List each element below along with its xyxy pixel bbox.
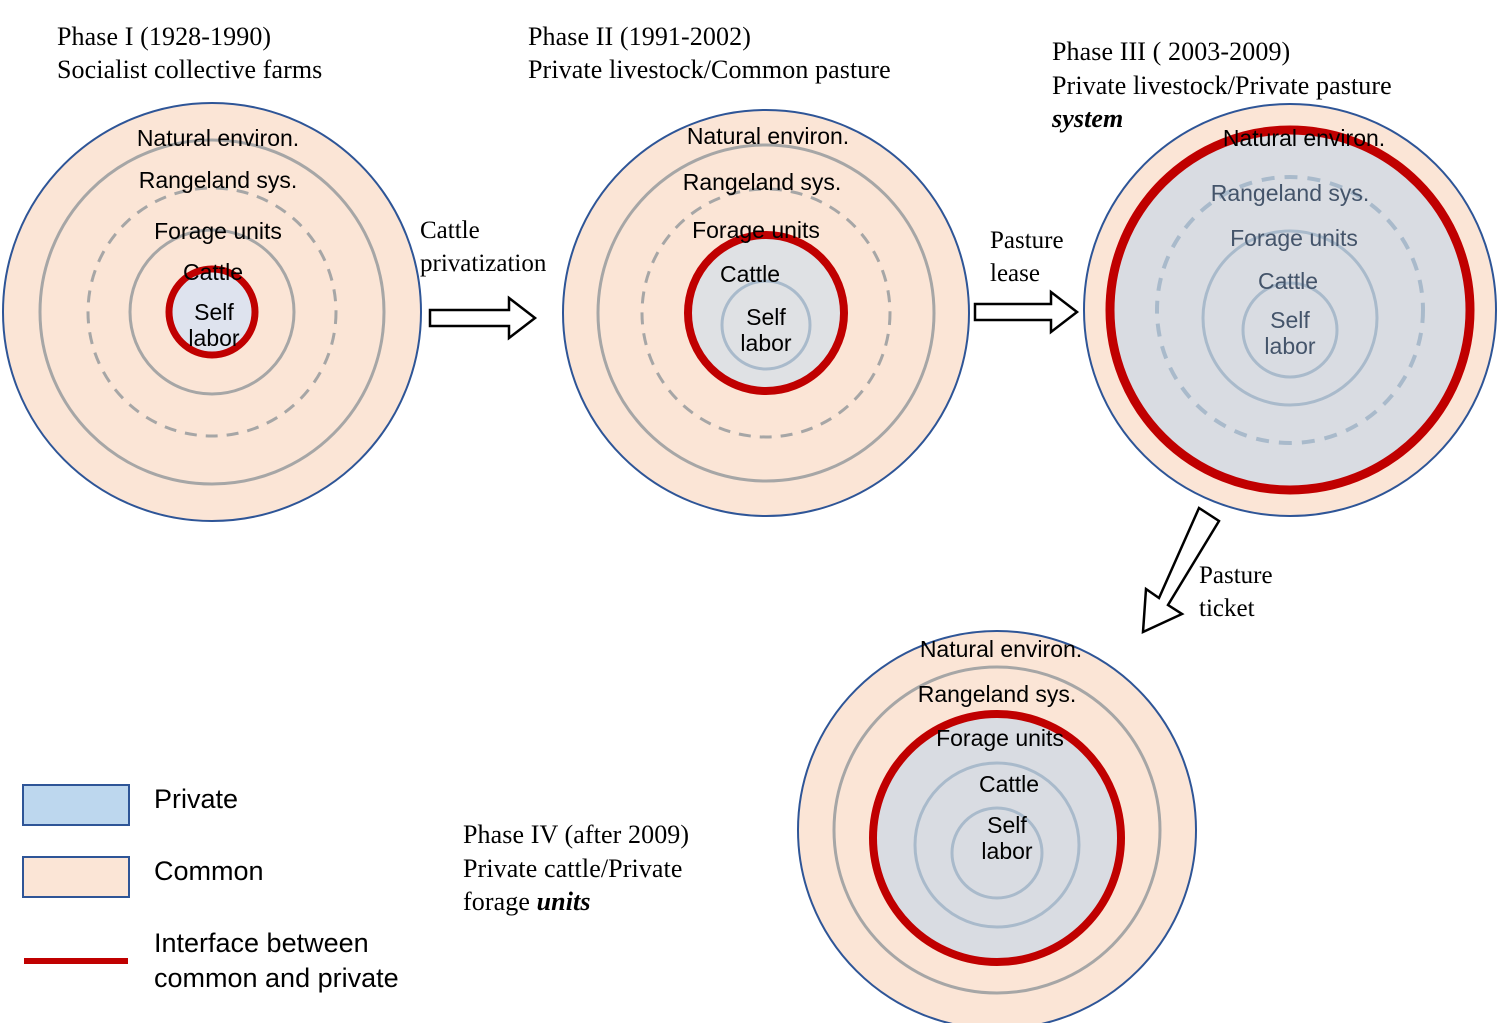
phase-3-title-emphasis: system (1052, 104, 1123, 133)
phase-3-title: Phase III ( 2003-2009) Private livestock… (1052, 2, 1502, 135)
legend-item-interface: Interface between common and private (22, 926, 442, 996)
phase-1-circles (3, 103, 421, 521)
figure-canvas: Phase I (1928-1990) Socialist collective… (0, 0, 1502, 1023)
phase-2-circles (563, 110, 969, 516)
phase-1-title: Phase I (1928-1990) Socialist collective… (57, 20, 457, 87)
transition-label-cattle-privatization: Cattle privatization (420, 215, 580, 280)
arrow-cattle-privatization (430, 298, 535, 338)
phase-4-title-emphasis: units (537, 887, 591, 916)
legend-label-common: Common (154, 854, 264, 889)
phase-1-ring-self-labor (169, 269, 255, 355)
legend-swatch-interface-line (22, 928, 130, 970)
legend-label-interface: Interface between common and private (154, 926, 399, 996)
transition-label-pasture-lease: Pasture lease (990, 225, 1110, 290)
legend: Private Common Interface between common … (22, 782, 442, 996)
phase-2-ring-self-labor (722, 281, 810, 369)
transition-label-pasture-ticket: Pasture ticket (1199, 560, 1329, 625)
phase-4-circles (798, 631, 1196, 1023)
legend-item-common: Common (22, 854, 442, 898)
legend-swatch-private (22, 784, 130, 826)
phase-3-title-text: Phase III ( 2003-2009) Private livestock… (1052, 37, 1392, 99)
phase-4-title: Phase IV (after 2009) Private cattle/Pri… (463, 785, 763, 918)
phase-2-title: Phase II (1991-2002) Private livestock/C… (528, 20, 998, 87)
legend-label-private: Private (154, 782, 238, 817)
phase-3-ring-self-labor (1243, 283, 1337, 377)
phase-3-circles (1084, 104, 1496, 516)
arrow-pasture-lease (975, 292, 1077, 332)
phase-4-ring-self-labor (952, 808, 1042, 898)
legend-swatch-common (22, 856, 130, 898)
legend-item-private: Private (22, 782, 442, 826)
